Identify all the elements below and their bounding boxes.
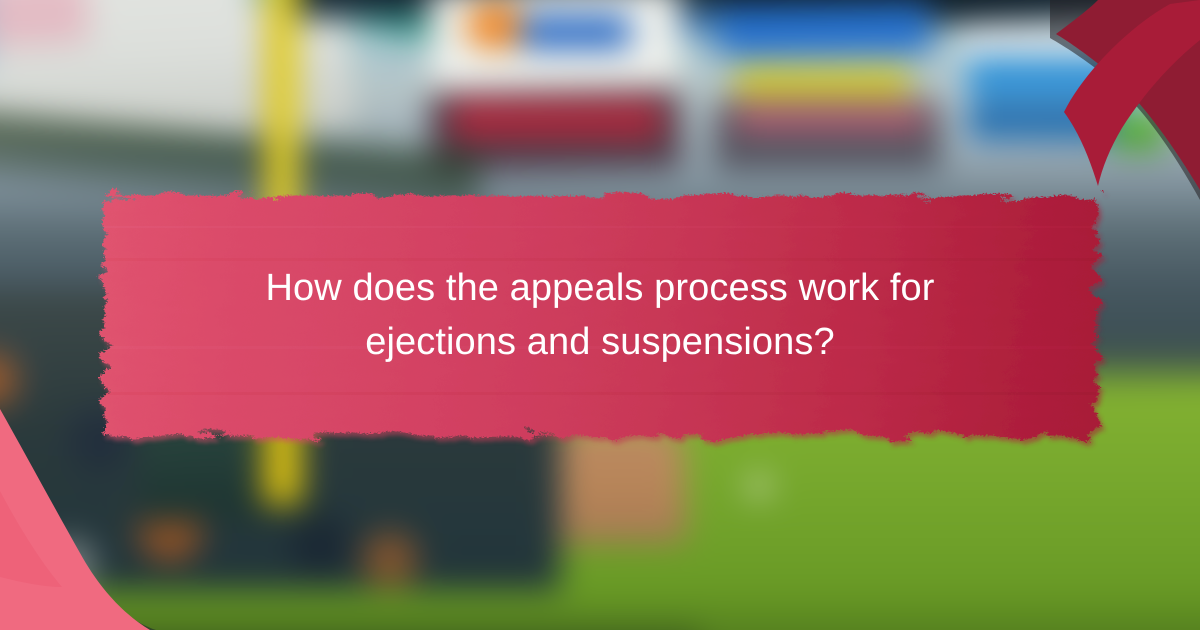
headline-line-2: ejections and suspensions?	[365, 316, 834, 370]
ad-board-red	[452, 100, 662, 140]
headline-banner: How does the appeals process work for ej…	[104, 196, 1096, 436]
ad-board-blue	[720, 3, 931, 57]
headline-text-block: How does the appeals process work for ej…	[104, 196, 1096, 436]
ad-logo-orange	[465, 2, 527, 50]
ad-board-yellow	[735, 68, 910, 96]
baseball	[750, 478, 768, 496]
grass-shadow	[0, 590, 1200, 630]
headline-line-1: How does the appeals process work for	[265, 262, 934, 316]
ad-board-right-navy	[966, 100, 1116, 142]
ad-logo-blue	[520, 15, 630, 49]
ad-board-right-blue	[966, 58, 1156, 96]
ad-board-right-green	[1110, 110, 1165, 150]
card-canvas: How does the appeals process work for ej…	[0, 0, 1200, 630]
ad-board-pink	[735, 108, 925, 130]
facade-sign-pink	[0, 0, 90, 49]
